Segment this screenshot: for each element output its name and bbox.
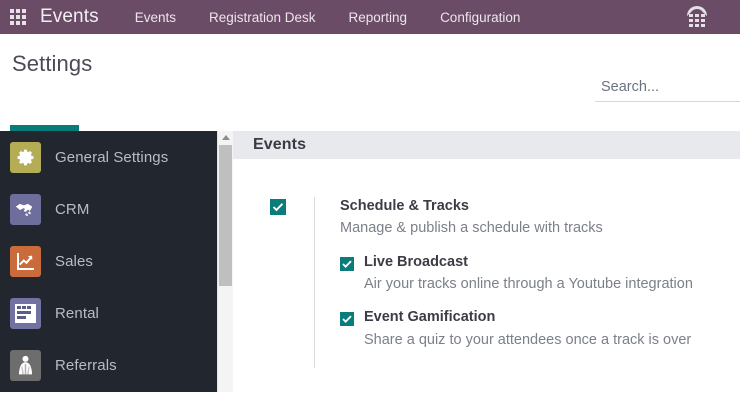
setting-event-gamification: Event Gamification Share a quiz to your … <box>340 309 693 349</box>
sidebar-item-referrals[interactable]: Referrals <box>0 339 217 391</box>
top-navbar: Events Events Registration Desk Reportin… <box>0 0 740 34</box>
page-title: Settings <box>12 51 92 77</box>
sidebar-item-label: CRM <box>55 201 89 218</box>
app-brand-events[interactable]: Events <box>40 6 99 28</box>
sub-setting-text-group: Live Broadcast Air your tracks online th… <box>364 254 693 294</box>
triangle-up-icon[interactable] <box>222 135 230 140</box>
settings-scrollbar[interactable] <box>217 131 233 392</box>
person-cape-icon <box>10 350 41 381</box>
sidebar-item-label: Sales <box>55 253 93 270</box>
section-header-events: Events <box>233 131 740 159</box>
sub-settings-list: Live Broadcast Air your tracks online th… <box>340 254 693 349</box>
settings-sidebar: General Settings CRM <box>0 131 217 392</box>
checkbox-live-broadcast[interactable] <box>340 257 354 271</box>
scrollbar-thumb[interactable] <box>219 145 232 286</box>
sub-setting-description: Share a quiz to your attendees once a tr… <box>364 331 691 350</box>
setting-live-broadcast: Live Broadcast Air your tracks online th… <box>340 254 693 294</box>
sidebar-item-label: General Settings <box>55 149 168 166</box>
sidebar-item-sales[interactable]: Sales <box>0 235 217 287</box>
content-area: General Settings CRM <box>0 131 740 403</box>
sub-setting-title: Event Gamification <box>364 309 691 326</box>
sidebar-item-label: Referrals <box>55 357 117 374</box>
phone-keypad-icon[interactable] <box>684 5 710 29</box>
apps-grid-icon[interactable] <box>10 9 27 26</box>
planning-sheet-icon <box>10 298 41 329</box>
settings-pane: Events Schedule & Tracks Manage & publis… <box>233 131 740 403</box>
search-box[interactable] <box>595 78 740 102</box>
nav-item-reporting[interactable]: Reporting <box>349 10 408 25</box>
app-window: Events Events Registration Desk Reportin… <box>0 0 740 403</box>
sub-setting-description: Air your tracks online through a Youtube… <box>364 275 693 294</box>
chart-growth-icon <box>10 246 41 277</box>
section-body: Schedule & Tracks Manage & publish a sch… <box>233 159 740 368</box>
sidebar-item-general-settings[interactable]: General Settings <box>0 131 217 183</box>
sidebar-item-crm[interactable]: CRM <box>0 183 217 235</box>
sub-setting-text-group: Event Gamification Share a quiz to your … <box>364 309 691 349</box>
handshake-icon <box>10 194 41 225</box>
control-panel: Settings SAVE DISCARD <box>0 34 740 131</box>
setting-schedule-and-tracks: Schedule & Tracks Manage & publish a sch… <box>270 197 740 368</box>
gear-icon <box>10 142 41 173</box>
nav-item-configuration[interactable]: Configuration <box>440 10 520 25</box>
setting-text-group: Schedule & Tracks Manage & publish a sch… <box>314 197 693 368</box>
sub-setting-title: Live Broadcast <box>364 254 693 271</box>
navbar-right-tools <box>684 5 726 29</box>
checkbox-schedule-and-tracks[interactable] <box>270 199 286 215</box>
search-input[interactable] <box>599 78 740 96</box>
setting-title: Schedule & Tracks <box>340 197 693 215</box>
nav-item-registration-desk[interactable]: Registration Desk <box>209 10 316 25</box>
section-title: Events <box>253 136 306 154</box>
setting-description: Manage & publish a schedule with tracks <box>340 219 693 238</box>
nav-item-events[interactable]: Events <box>135 10 176 25</box>
sidebar-item-label: Rental <box>55 305 99 322</box>
sidebar-item-rental[interactable]: Rental <box>0 287 217 339</box>
checkbox-event-gamification[interactable] <box>340 312 354 326</box>
